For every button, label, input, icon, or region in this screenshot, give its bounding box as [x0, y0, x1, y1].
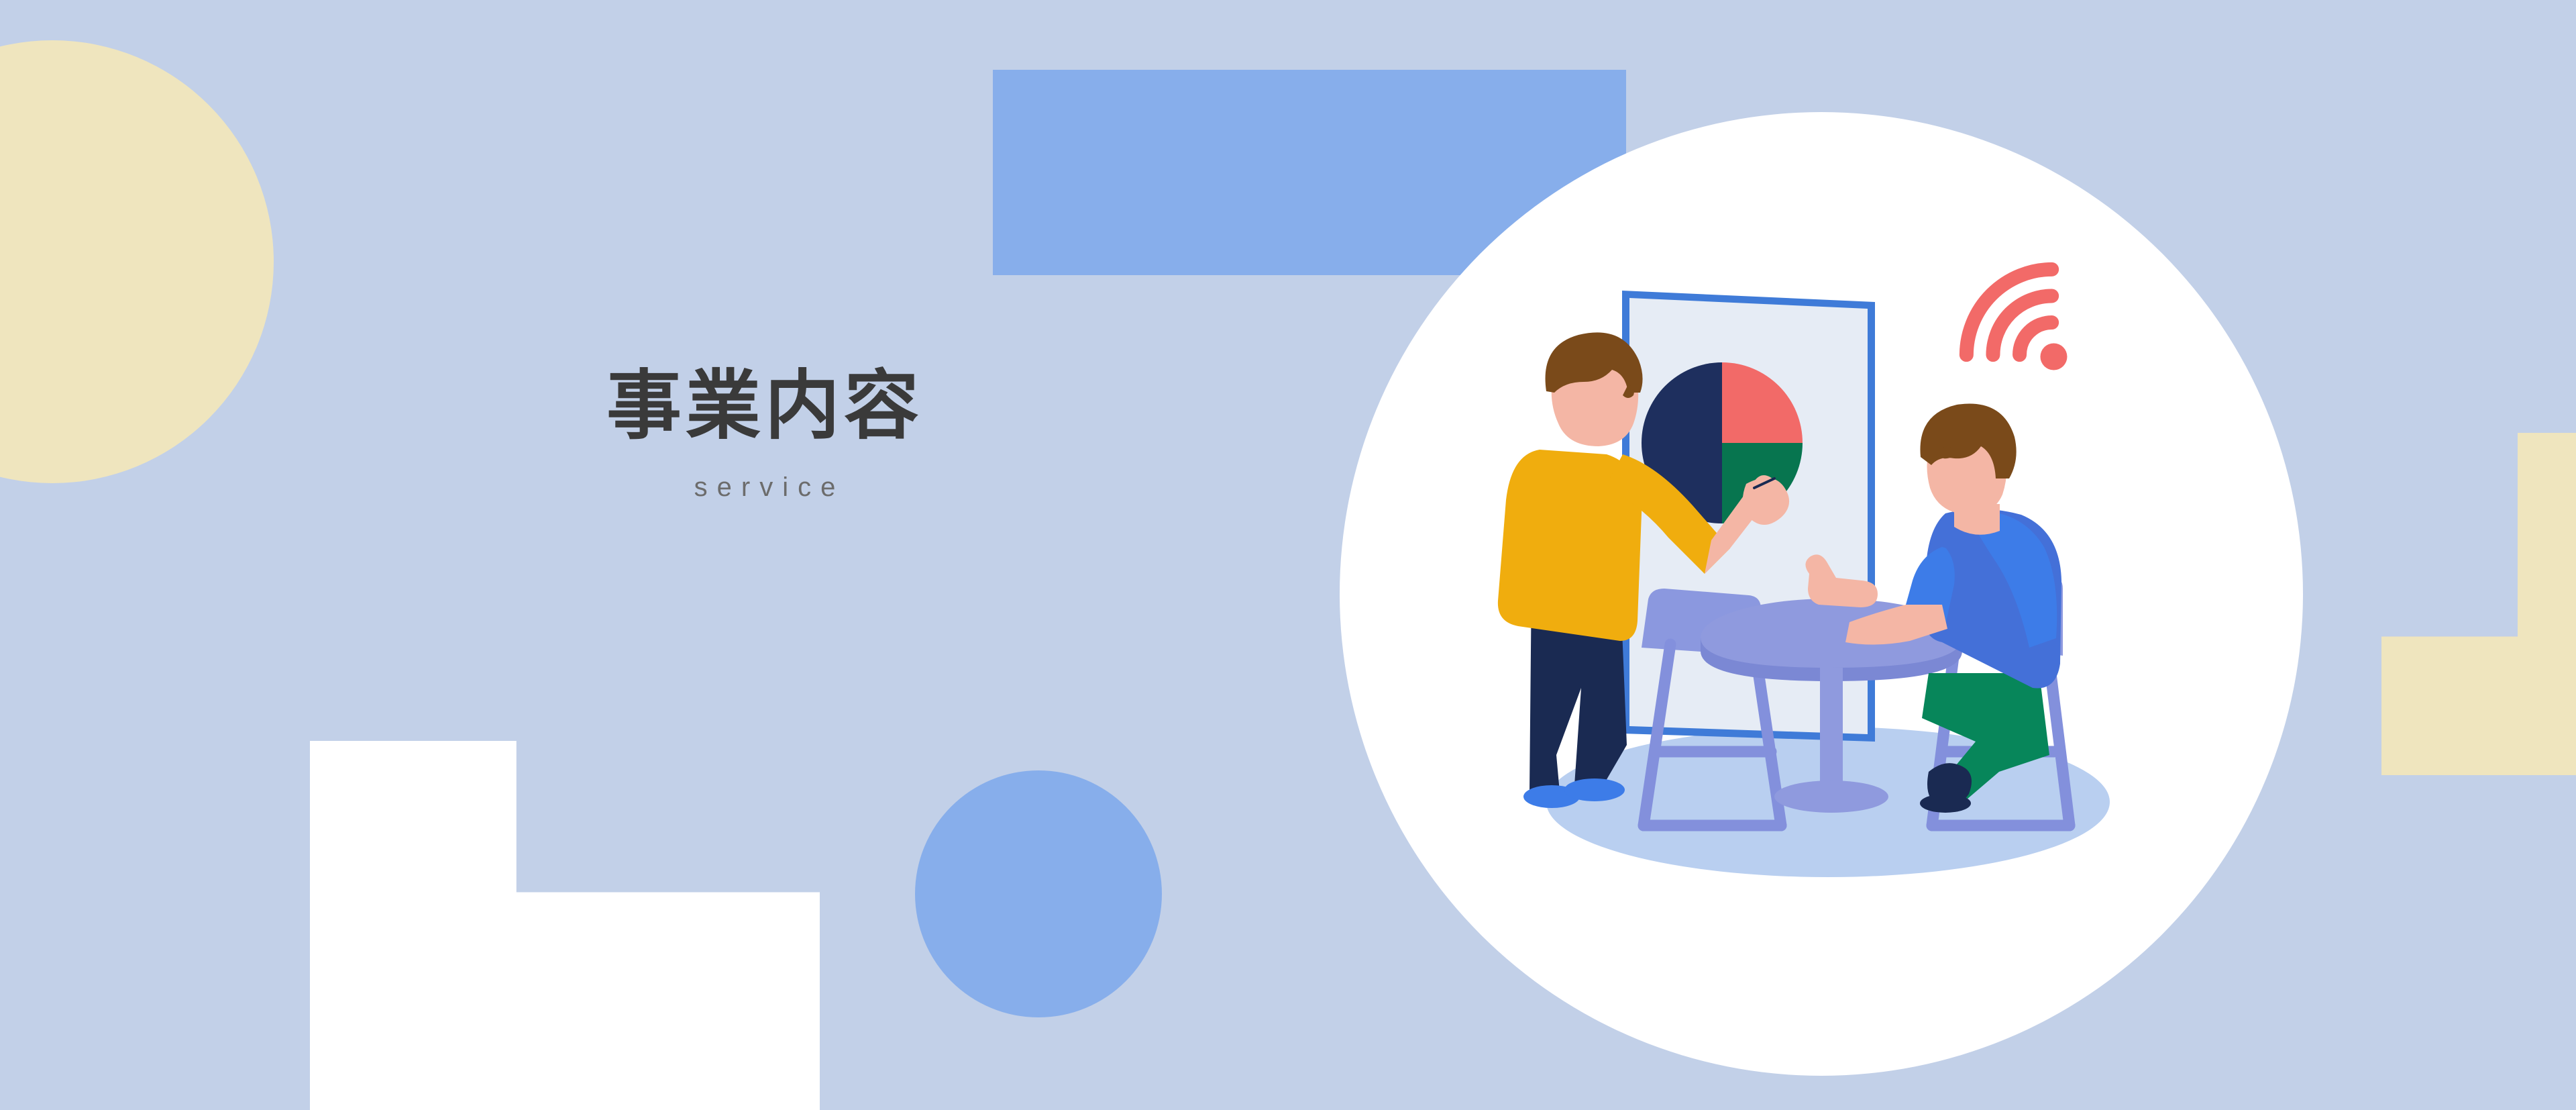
cream-circle-shape	[0, 40, 274, 483]
page-title: 事業内容	[510, 362, 1020, 450]
hero-illustration	[1338, 111, 2304, 1077]
page-root: 事業内容 service	[0, 0, 2576, 1110]
presenter-shoe-front	[1564, 778, 1625, 801]
white-step-shape	[310, 741, 820, 1110]
table-column	[1820, 668, 1843, 795]
blue-circle-shape	[915, 770, 1162, 1017]
cream-step-shape	[2381, 433, 2576, 775]
table-base	[1774, 780, 1888, 813]
page-subtitle: service	[510, 472, 1020, 503]
heading-block: 事業内容 service	[510, 362, 1020, 503]
listener-shoe-sole	[1920, 794, 1971, 813]
listener-neck	[1954, 504, 2000, 535]
